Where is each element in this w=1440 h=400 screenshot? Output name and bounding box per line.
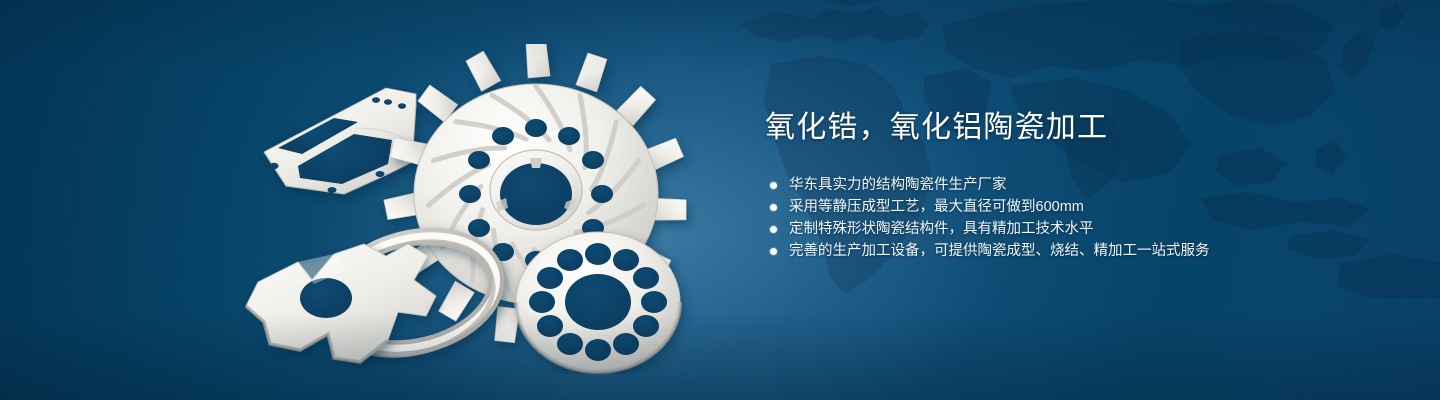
- banner-headline: 氧化锆，氧化铝陶瓷加工: [765, 108, 1385, 148]
- list-item-label: 完善的生产加工设备，可提供陶瓷成型、烧结、精加工一站式服务: [789, 243, 1210, 259]
- bullet-dot-icon: [770, 248, 777, 255]
- list-item: 定制特殊形状陶瓷结构件，具有精加工技术水平: [765, 218, 1385, 240]
- list-item-label: 定制特殊形状陶瓷结构件，具有精加工技术水平: [789, 221, 1094, 237]
- bullet-dot-icon: [770, 182, 777, 189]
- banner-copy: 氧化锆，氧化铝陶瓷加工 华东具实力的结构陶瓷件生产厂家 采用等静压成型工艺，最大…: [765, 108, 1385, 262]
- list-item-label: 华东具实力的结构陶瓷件生产厂家: [789, 177, 1007, 193]
- bullet-dot-icon: [770, 204, 777, 211]
- list-item: 采用等静压成型工艺，最大直径可做到600mm: [765, 196, 1385, 218]
- bullet-dot-icon: [770, 226, 777, 233]
- list-item-label: 采用等静压成型工艺，最大直径可做到600mm: [789, 199, 1084, 215]
- banner-feature-list: 华东具实力的结构陶瓷件生产厂家 采用等静压成型工艺，最大直径可做到600mm 定…: [765, 174, 1385, 262]
- promo-banner: 氧化锆，氧化铝陶瓷加工 华东具实力的结构陶瓷件生产厂家 采用等静压成型工艺，最大…: [0, 0, 1440, 400]
- list-item: 华东具实力的结构陶瓷件生产厂家: [765, 174, 1385, 196]
- list-item: 完善的生产加工设备，可提供陶瓷成型、烧结、精加工一站式服务: [765, 240, 1385, 262]
